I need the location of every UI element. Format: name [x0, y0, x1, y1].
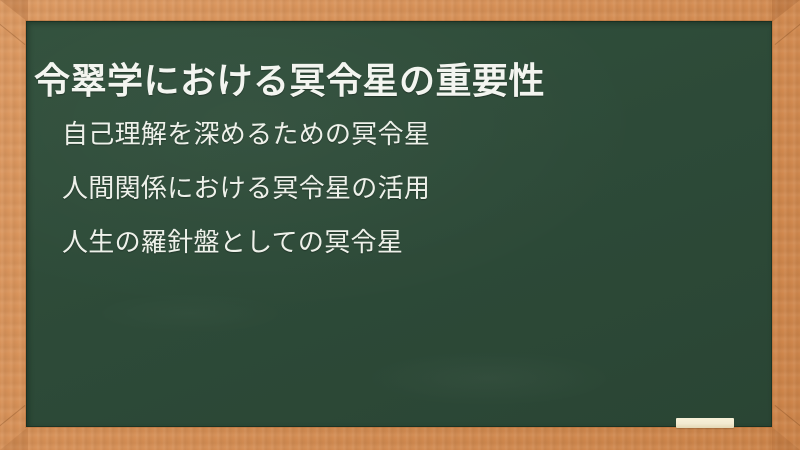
chalkboard-content: 令翠学における冥令星の重要性 自己理解を深めるための冥令星 人間関係における冥令…	[26, 21, 772, 427]
frame-corner-bottom-left	[0, 427, 28, 450]
bullet-item-1: 自己理解を深めるための冥令星	[62, 107, 752, 161]
frame-miter-seam-top-right	[775, 19, 800, 45]
slide-title: 令翠学における冥令星の重要性	[34, 57, 752, 105]
frame-corner-top-left	[0, 0, 28, 22]
chalk-stick-icon	[676, 418, 734, 428]
chalkboard-surface: 令翠学における冥令星の重要性 自己理解を深めるための冥令星 人間関係における冥令…	[26, 21, 772, 427]
frame-corner-bottom-right	[772, 427, 800, 450]
frame-miter-seam-bottom-right	[775, 405, 800, 431]
frame-miter-seam-bottom-left	[0, 405, 25, 431]
frame-miter-seam-top-left	[0, 19, 25, 45]
frame-corner-top-right	[772, 0, 800, 22]
bullet-item-2: 人間関係における冥令星の活用	[62, 161, 752, 215]
bullet-item-3: 人生の羅針盤としての冥令星	[62, 215, 752, 269]
chalkboard-slide: 令翠学における冥令星の重要性 自己理解を深めるための冥令星 人間関係における冥令…	[0, 0, 800, 450]
bullet-list: 自己理解を深めるための冥令星 人間関係における冥令星の活用 人生の羅針盤としての…	[62, 107, 752, 269]
